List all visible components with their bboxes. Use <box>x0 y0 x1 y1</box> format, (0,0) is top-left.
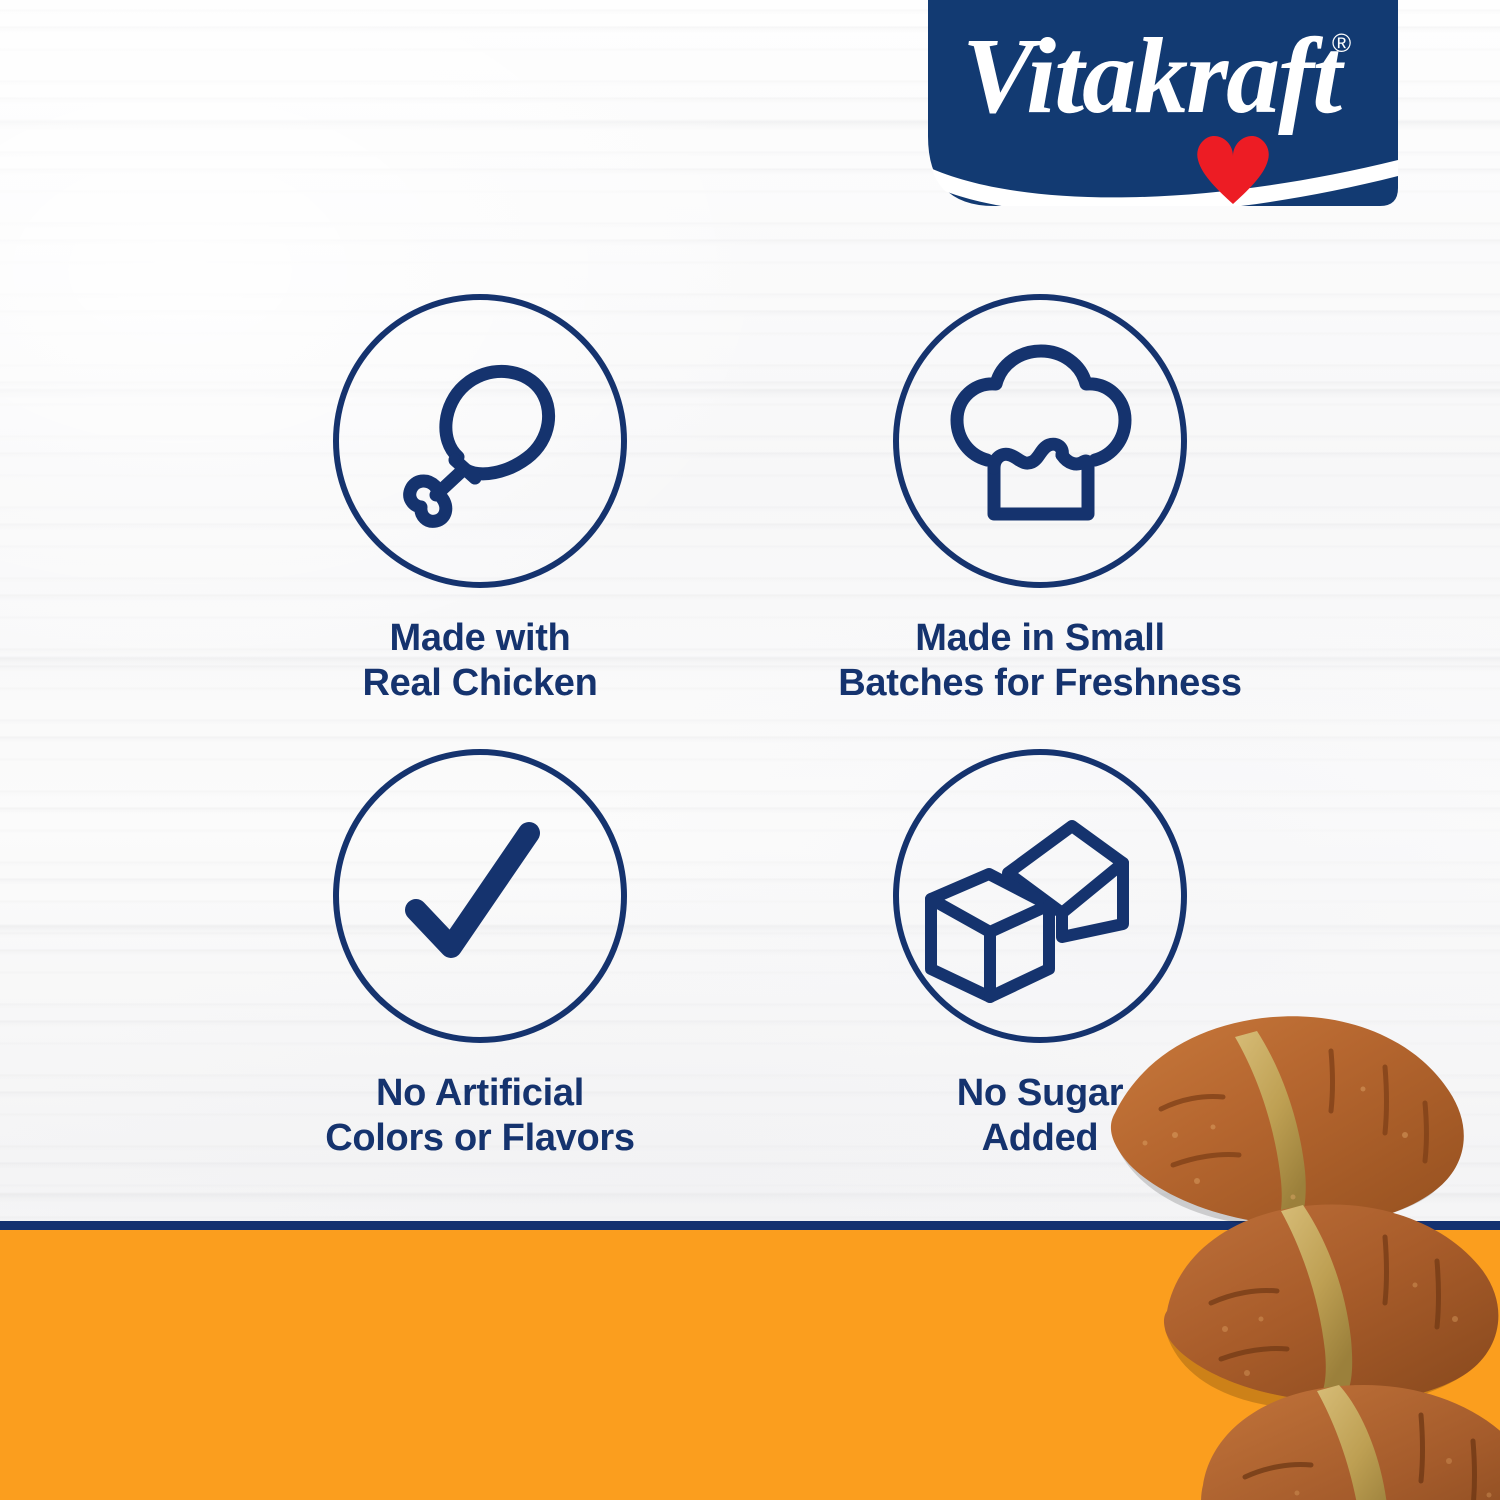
navy-divider-rule <box>0 1221 1500 1230</box>
vitakraft-logo: Vitakraft ® <box>928 0 1398 208</box>
sugar-cubes-badge <box>891 747 1189 1045</box>
orange-footer-band <box>0 1230 1500 1500</box>
feature-grid: Made with Real Chicken <box>200 292 1320 1202</box>
feature-label: Made with Real Chicken <box>362 616 597 706</box>
chicken-drumstick-badge <box>331 292 629 590</box>
chicken-drumstick-icon <box>410 371 549 521</box>
feature-made-in-small-batches: Made in Small Batches for Freshness <box>760 292 1320 747</box>
chef-hat-badge <box>891 292 1189 590</box>
feature-label: No Sugar Added <box>957 1071 1124 1161</box>
badge-ring <box>336 297 624 585</box>
feature-no-artificial-colors: No Artificial Colors or Flavors <box>200 747 760 1202</box>
feature-made-with-real-chicken: Made with Real Chicken <box>200 292 760 747</box>
logo-wordmark: Vitakraft <box>962 17 1345 136</box>
badge-ring <box>896 297 1184 585</box>
product-feature-panel: Vitakraft ® <box>0 0 1500 1500</box>
registered-trademark-icon: ® <box>1332 28 1351 58</box>
feature-label: No Artificial Colors or Flavors <box>325 1071 635 1161</box>
checkmark-icon <box>416 833 529 947</box>
chef-hat-icon <box>957 351 1125 514</box>
feature-no-sugar-added: No Sugar Added <box>760 747 1320 1202</box>
sugar-cubes-icon <box>931 826 1123 997</box>
feature-label: Made in Small Batches for Freshness <box>838 616 1241 706</box>
checkmark-badge <box>331 747 629 1045</box>
